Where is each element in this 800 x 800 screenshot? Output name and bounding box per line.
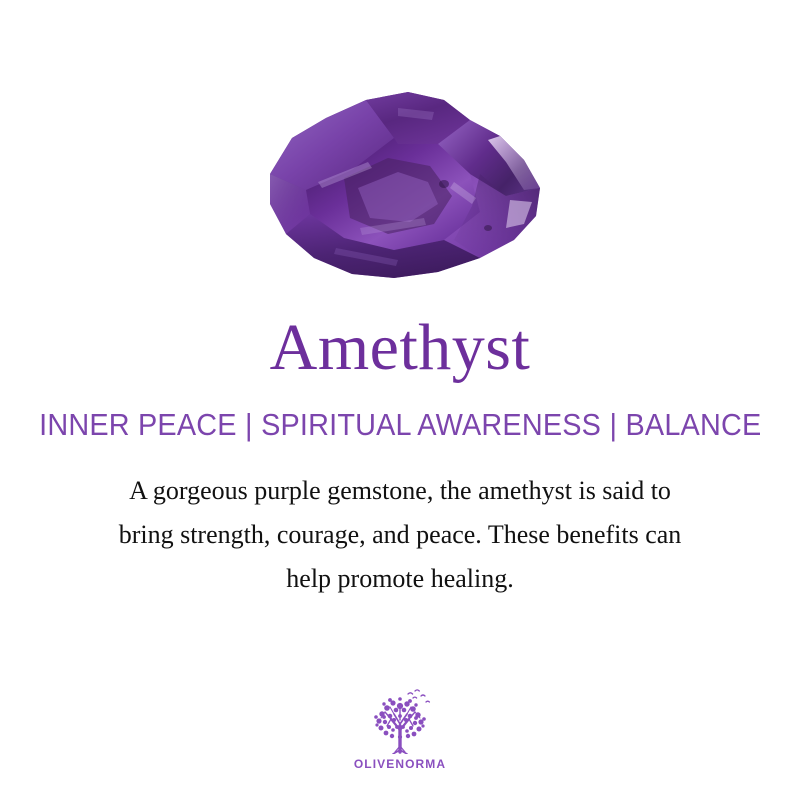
keyword-balance: BALANCE [625, 407, 761, 442]
description-line: help promote healing. [50, 557, 750, 601]
tree-branches [381, 707, 420, 752]
description-line: bring strength, courage, and peace. Thes… [50, 513, 750, 557]
keyword-inner-peace: INNER PEACE [39, 407, 236, 442]
brand-name: OLIVENORMA [354, 757, 446, 771]
keyword-separator: | [609, 407, 617, 443]
keyword-spiritual-awareness: SPIRITUAL AWARENESS [261, 407, 601, 442]
description-line: A gorgeous purple gemstone, the amethyst… [50, 469, 750, 513]
amethyst-crystal-icon [248, 78, 558, 288]
crystal-pit-2 [484, 225, 492, 231]
crystal-pit-1 [439, 180, 449, 188]
hero-image-area [0, 0, 800, 315]
amethyst-crystal-image [248, 78, 558, 288]
brand-logo: OLIVENORMA [0, 686, 800, 771]
description-text: A gorgeous purple gemstone, the amethyst… [50, 469, 750, 601]
product-info-card: Amethyst INNER PEACE|SPIRITUAL AWARENESS… [0, 0, 800, 800]
keyword-separator: | [245, 407, 253, 443]
keyword-list: INNER PEACE|SPIRITUAL AWARENESS|BALANCE [39, 407, 761, 443]
tree-of-life-icon [363, 686, 437, 754]
page-title: Amethyst [270, 315, 531, 389]
